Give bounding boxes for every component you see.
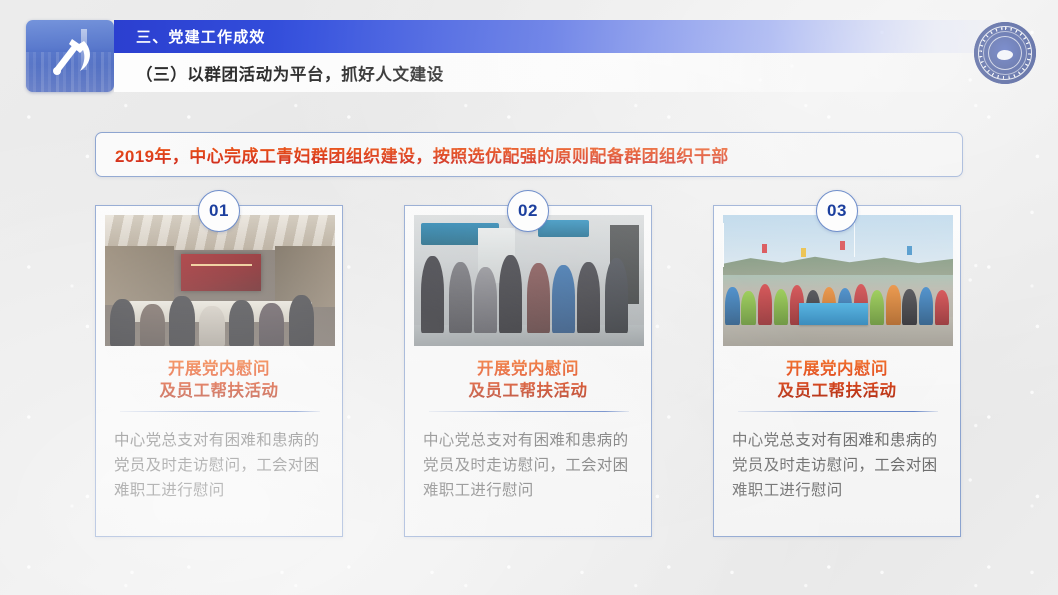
card-number-badge: 01 [198,190,240,232]
banner-text: 2019年，中心完成工青妇群团组织建设，按照选优配强的原则配备群团组织干部 [96,142,729,167]
card-row: 01 开展党内慰问 及员工帮扶活动 中心党总支对有困难和患病的党员及时走访慰问，… [95,205,963,537]
hammer-and-sickle-emblem-icon [26,20,114,92]
outdoor-group-photo [723,215,953,346]
card-body-text: 中心党总支对有困难和患病的党员及时走访慰问，工会对困难职工进行慰问 [732,428,946,503]
content-card[interactable]: 02 开展党内慰问 及员工帮扶活动 中心党总支对有困难和患病的党员及时走访慰问，… [404,205,652,537]
card-title-line1: 开展党内慰问 [714,358,960,380]
card-title-line1: 开展党内慰问 [405,358,651,380]
content-card[interactable]: 01 开展党内慰问 及员工帮扶活动 中心党总支对有困难和患病的党员及时走访慰问，… [95,205,343,537]
card-divider [120,411,320,412]
card-title: 开展党内慰问 及员工帮扶活动 [714,358,960,402]
card-body-text: 中心党总支对有困难和患病的党员及时走访慰问，工会对困难职工进行慰问 [114,428,328,503]
content-card[interactable]: 03 开展党内慰问 及员工帮扶活动 中心党总支对有困难和患病的党员及时走访慰问，… [713,205,961,537]
card-number-badge: 02 [507,190,549,232]
hospital-corridor-group-photo [414,215,644,346]
subsection-title-bar: （三）以群团活动为平台，抓好人文建设 [114,53,1026,92]
card-title: 开展党内慰问 及员工帮扶活动 [96,358,342,402]
card-title: 开展党内慰问 及员工帮扶活动 [405,358,651,402]
section-title: 三、党建工作成效 [114,26,266,47]
seal-center [988,36,1022,70]
institution-seal-logo-icon [974,22,1036,84]
slide-header: 三、党建工作成效 （三）以群团活动为平台，抓好人文建设 [26,20,1026,92]
subsection-title: （三）以群团活动为平台，抓好人文建设 [114,61,444,85]
card-title-line2: 及员工帮扶活动 [405,380,651,402]
highlight-banner: 2019年，中心完成工青妇群团组织建设，按照选优配强的原则配备群团组织干部 [95,132,963,177]
seal-emblem-shape [997,50,1013,60]
card-divider [429,411,629,412]
card-number-badge: 03 [816,190,858,232]
card-title-line1: 开展党内慰问 [96,358,342,380]
card-divider [738,411,938,412]
card-body-text: 中心党总支对有困难和患病的党员及时走访慰问，工会对困难职工进行慰问 [423,428,637,503]
meeting-room-photo [105,215,335,346]
card-title-line2: 及员工帮扶活动 [96,380,342,402]
card-title-line2: 及员工帮扶活动 [714,380,960,402]
section-title-bar: 三、党建工作成效 [114,20,1026,53]
